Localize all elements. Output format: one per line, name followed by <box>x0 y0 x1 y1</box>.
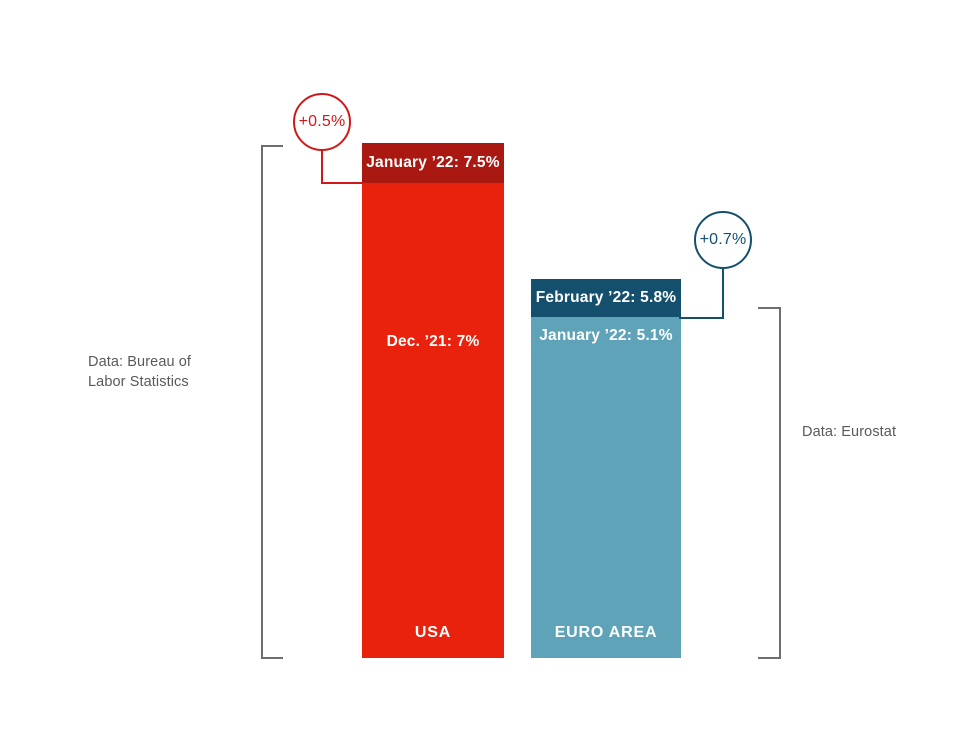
bar-euro-top-label: February ’22: 5.8% <box>531 289 681 307</box>
bar-euro-area: February ’22: 5.8% January ’22: 5.1% EUR… <box>531 279 681 658</box>
bar-euro-base-segment <box>531 317 681 658</box>
bar-euro-base-label: January ’22: 5.1% <box>531 327 681 345</box>
usa-source-caption: Data: Bureau of Labor Statistics <box>88 352 248 392</box>
euro-increment-value: +0.7% <box>700 231 747 249</box>
euro-bracket-top-tick <box>758 307 781 309</box>
bar-usa: January ’22: 7.5% Dec. ’21: 7% USA <box>362 143 504 658</box>
chart-canvas: Data: Bureau of Labor Statistics Data: E… <box>0 0 980 736</box>
euro-connector-vertical <box>722 267 724 319</box>
bar-usa-base-label: Dec. ’21: 7% <box>362 333 504 351</box>
usa-connector-horizontal <box>321 182 364 184</box>
euro-increment-callout: +0.7% <box>694 211 752 269</box>
euro-source-line-1: Data: Eurostat <box>802 422 980 442</box>
bar-euro-category-label: EURO AREA <box>531 624 681 642</box>
euro-bracket-vertical <box>779 307 781 659</box>
euro-connector-horizontal <box>679 317 724 319</box>
usa-bracket-top-tick <box>261 145 283 147</box>
bar-usa-top-label: January ’22: 7.5% <box>362 154 504 172</box>
usa-bracket-vertical <box>261 145 263 659</box>
bar-usa-base-segment <box>362 183 504 658</box>
usa-bracket-bottom-tick <box>261 657 283 659</box>
usa-increment-callout: +0.5% <box>293 93 351 151</box>
bar-usa-category-label: USA <box>362 624 504 642</box>
euro-bracket-bottom-tick <box>758 657 781 659</box>
euro-source-caption: Data: Eurostat <box>802 422 980 442</box>
usa-increment-value: +0.5% <box>299 113 346 131</box>
usa-connector-vertical <box>321 149 323 184</box>
usa-source-line-2: Labor Statistics <box>88 372 248 392</box>
usa-source-line-1: Data: Bureau of <box>88 352 248 372</box>
